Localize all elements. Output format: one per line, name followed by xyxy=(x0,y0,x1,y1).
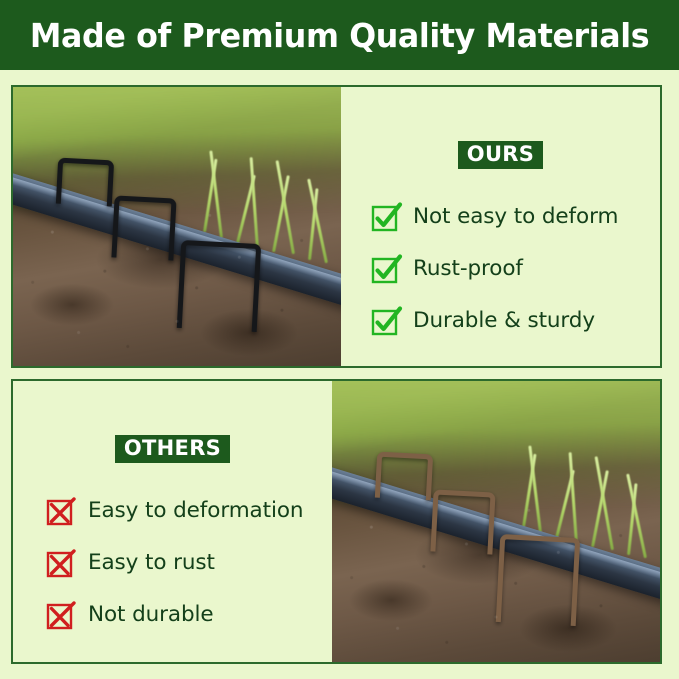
cross-icon xyxy=(46,600,76,630)
content-others: OTHERS Easy to deformation xyxy=(13,381,332,662)
soil-texture xyxy=(13,87,341,366)
cross-icon xyxy=(46,496,76,526)
photo-others-rusty-staples xyxy=(332,381,660,662)
list-item-label: Rust-proof xyxy=(413,258,523,280)
feature-list-others: Easy to deformation Easy to rust xyxy=(13,485,332,641)
list-item: Easy to deformation xyxy=(46,485,332,537)
header-banner: Made of Premium Quality Materials xyxy=(0,0,679,70)
cross-icon xyxy=(46,548,76,578)
list-item: Rust-proof xyxy=(371,243,660,295)
list-item-label: Easy to rust xyxy=(88,552,215,574)
comparison-infographic: Made of Premium Quality Materials OURS xyxy=(0,0,679,679)
list-item: Easy to rust xyxy=(46,537,332,589)
list-item: Durable & sturdy xyxy=(371,295,660,347)
check-icon xyxy=(371,306,401,336)
badge-others: OTHERS xyxy=(115,435,230,463)
soil-texture xyxy=(332,381,660,662)
panel-ours: OURS Not easy to deform xyxy=(11,85,662,368)
feature-list-ours: Not easy to deform Rust-proof xyxy=(341,191,660,347)
photo-ours-black-staples xyxy=(13,87,341,366)
list-item: Not easy to deform xyxy=(371,191,660,243)
badge-ours: OURS xyxy=(458,141,543,169)
list-item-label: Durable & sturdy xyxy=(413,310,595,332)
check-icon xyxy=(371,254,401,284)
list-item-label: Not durable xyxy=(88,604,214,626)
list-item: Not durable xyxy=(46,589,332,641)
list-item-label: Easy to deformation xyxy=(88,500,303,522)
page-title: Made of Premium Quality Materials xyxy=(30,19,649,52)
list-item-label: Not easy to deform xyxy=(413,206,618,228)
panel-others: OTHERS Easy to deformation xyxy=(11,379,662,664)
content-ours: OURS Not easy to deform xyxy=(341,87,660,366)
check-icon xyxy=(371,202,401,232)
